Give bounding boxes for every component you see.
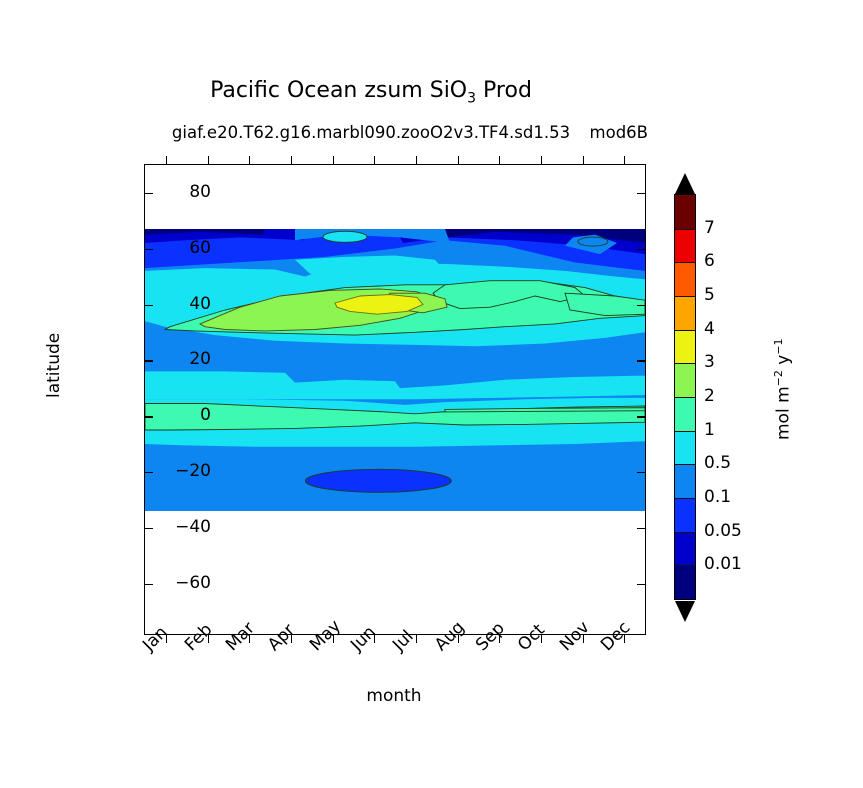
y-tick-right [637,249,645,250]
colorbar-band-divider [675,498,695,499]
figure-canvas: Pacific Ocean zsum SiO3 Prod giaf.e20.T6… [0,0,863,788]
y-tick-label: 0 [200,405,211,425]
y-tick-label: 40 [189,294,211,314]
colorbar-band-divider [675,397,695,398]
title-subscript: 3 [467,90,476,106]
colorbar-tick-label: 1 [704,420,715,440]
title-tail: Prod [476,78,532,103]
subtitle-group: giaf.e20.T62.g16.marbl090.zooO2v3.TF4.sd… [0,123,742,147]
y-tick-right [637,193,645,194]
y-tick-label: 80 [189,182,211,202]
colorbar-tick-label: 0.1 [704,487,731,507]
y-tick-right [637,416,645,417]
colorbar-tick-label: 5 [704,285,715,305]
colorbar-arrow-bottom-icon [674,600,696,623]
plot-axes [144,164,646,635]
y-tick [145,528,153,529]
units-part-1: mol m [774,386,794,440]
y-tick [145,305,153,306]
colorbar-bands[interactable] [674,194,696,600]
colorbar-tick-label: 0.01 [704,554,742,574]
y-tick-right [637,584,645,585]
colorbar-band-divider [675,363,695,364]
x-tick-top [416,156,417,165]
title-text: Pacific Ocean zsum SiO [210,78,467,103]
x-tick-top [166,156,167,165]
y-tick [145,472,153,473]
x-tick-top [333,156,334,165]
colorbar[interactable] [674,172,696,622]
colorbar-band[interactable] [675,532,695,566]
x-tick-top [499,156,500,165]
colorbar-band[interactable] [675,498,695,532]
colorbar-band[interactable] [675,229,695,263]
y-tick-right [637,528,645,529]
colorbar-band-divider [675,262,695,263]
page-title: Pacific Ocean zsum SiO3 Prod [0,78,742,106]
colorbar-band[interactable] [675,565,695,599]
y-tick [145,249,153,250]
units-exp-2: −1 [772,338,785,354]
x-tick-top [458,156,459,165]
colorbar-arrow-top-icon [674,172,696,195]
colorbar-tick-label: 0.05 [704,521,742,541]
x-tick-top [208,156,209,165]
units-exp-1: −2 [772,370,785,386]
contour-band [323,232,367,243]
colorbar-band-divider [675,330,695,331]
y-tick-right [637,305,645,306]
y-tick-label: 20 [189,349,211,369]
x-axis-label: month [0,686,788,706]
contour-band [578,237,608,246]
x-tick-top [374,156,375,165]
y-tick [145,193,153,194]
colorbar-tick-label: 2 [704,386,715,406]
contour-field [145,229,645,511]
colorbar-band-divider [675,532,695,533]
y-tick [145,360,153,361]
colorbar-tick-label: 4 [704,319,715,339]
x-tick-top [291,156,292,165]
colorbar-band-divider [675,229,695,230]
y-tick-label: −60 [175,573,211,593]
y-tick-label: 60 [189,238,211,258]
colorbar-units-label: mol m−2 y−1 [772,338,794,440]
subtitle-overlap-label: mod6B [0,123,648,142]
y-tick-label: −20 [175,461,211,481]
x-tick-top [541,156,542,165]
colorbar-band[interactable] [675,431,695,465]
x-tick-top [583,156,584,165]
x-tick-top [249,156,250,165]
y-tick-right [637,472,645,473]
colorbar-band[interactable] [675,397,695,431]
colorbar-band[interactable] [675,262,695,296]
colorbar-tick-label: 7 [704,218,715,238]
plot-area [145,165,645,634]
colorbar-band[interactable] [675,296,695,330]
colorbar-tick-label: 6 [704,251,715,271]
colorbar-band-divider [675,565,695,566]
x-tick-top [624,156,625,165]
contour-svg [145,229,645,511]
colorbar-tick-label: 0.5 [704,453,731,473]
colorbar-band[interactable] [675,363,695,397]
y-tick [145,416,153,417]
contour-band [305,470,451,493]
y-tick-right [637,360,645,361]
colorbar-band-divider [675,431,695,432]
colorbar-band[interactable] [675,464,695,498]
y-tick [145,584,153,585]
units-part-2: y [774,355,794,370]
colorbar-band[interactable] [675,195,695,229]
y-axis-label: latitude [44,333,64,398]
y-tick-label: −40 [175,517,211,537]
colorbar-band[interactable] [675,330,695,364]
colorbar-tick-label: 3 [704,352,715,372]
colorbar-band-divider [675,296,695,297]
colorbar-band-divider [675,464,695,465]
